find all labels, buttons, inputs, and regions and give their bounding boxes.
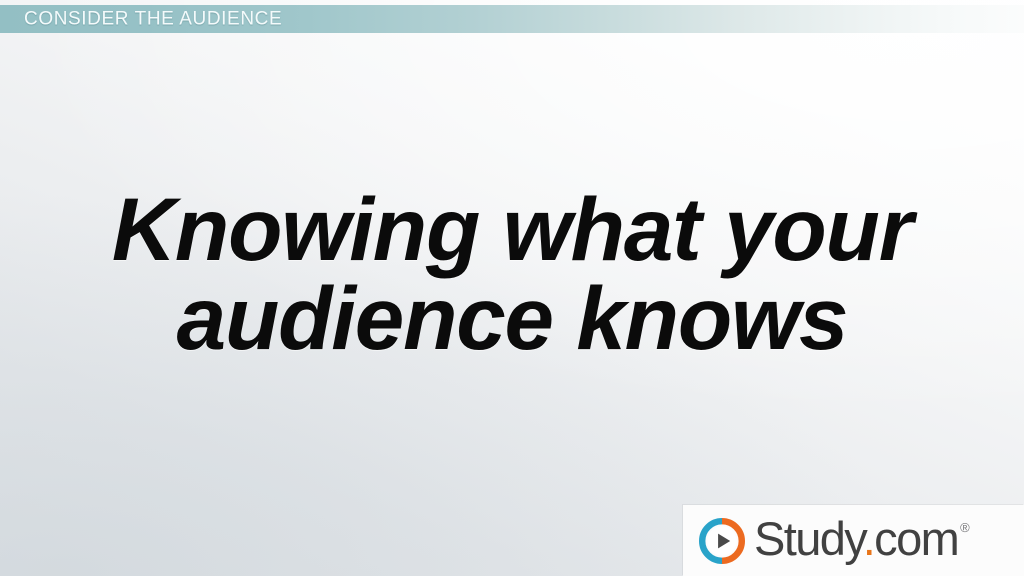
play-circle-icon — [699, 518, 745, 564]
brand-suffix: com — [874, 512, 958, 565]
brand-primary: Study — [754, 512, 863, 565]
header-bar: CONSIDER THE AUDIENCE — [0, 5, 1024, 33]
brand-dot: . — [863, 512, 874, 565]
headline-block: Knowing what your audience knows — [0, 186, 1024, 362]
study-com-wordmark: Study.com® — [754, 515, 970, 562]
header-title: CONSIDER THE AUDIENCE — [24, 10, 282, 29]
headline-line-1: Knowing what your — [0, 186, 1024, 273]
logo-inner: Study.com® — [699, 517, 970, 564]
headline-line-2: audience knows — [0, 275, 1024, 362]
slide-canvas: CONSIDER THE AUDIENCE Knowing what your … — [0, 0, 1024, 576]
study-com-logo[interactable]: Study.com® — [683, 505, 1024, 576]
registered-trademark-icon: ® — [960, 520, 970, 535]
